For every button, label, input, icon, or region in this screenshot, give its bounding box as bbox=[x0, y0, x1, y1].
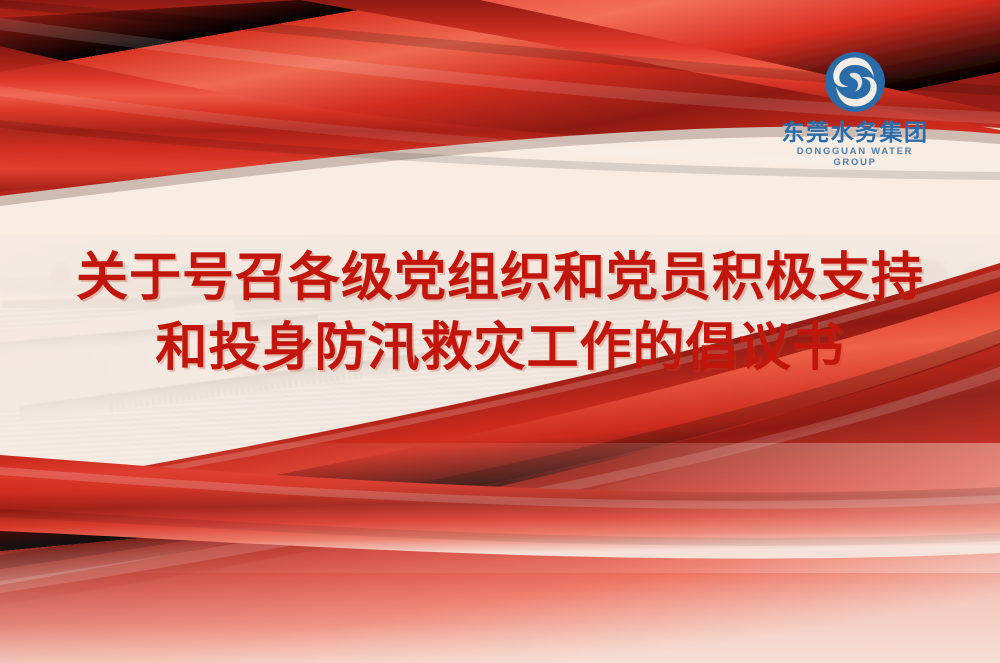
page-title: 关于号召各级党组织和党员积极支持 和投身防汛救灾工作的倡议书 bbox=[0, 243, 1000, 383]
poster-canvas: 东莞水务集团 DONGGUAN WATER GROUP 关于号召各级党组织和党员… bbox=[0, 0, 1000, 663]
ribbon-bottom bbox=[0, 413, 1000, 663]
page-title-line-1: 关于号召各级党组织和党员积极支持 bbox=[0, 243, 1000, 313]
brand-name-cn: 东莞水务集团 bbox=[775, 120, 935, 144]
brand-logo: 东莞水务集团 DONGGUAN WATER GROUP bbox=[775, 48, 935, 168]
brand-name-en: DONGGUAN WATER GROUP bbox=[775, 146, 935, 168]
page-title-line-2: 和投身防汛救灾工作的倡议书 bbox=[0, 313, 1000, 383]
water-swirl-logo-icon bbox=[821, 48, 889, 116]
